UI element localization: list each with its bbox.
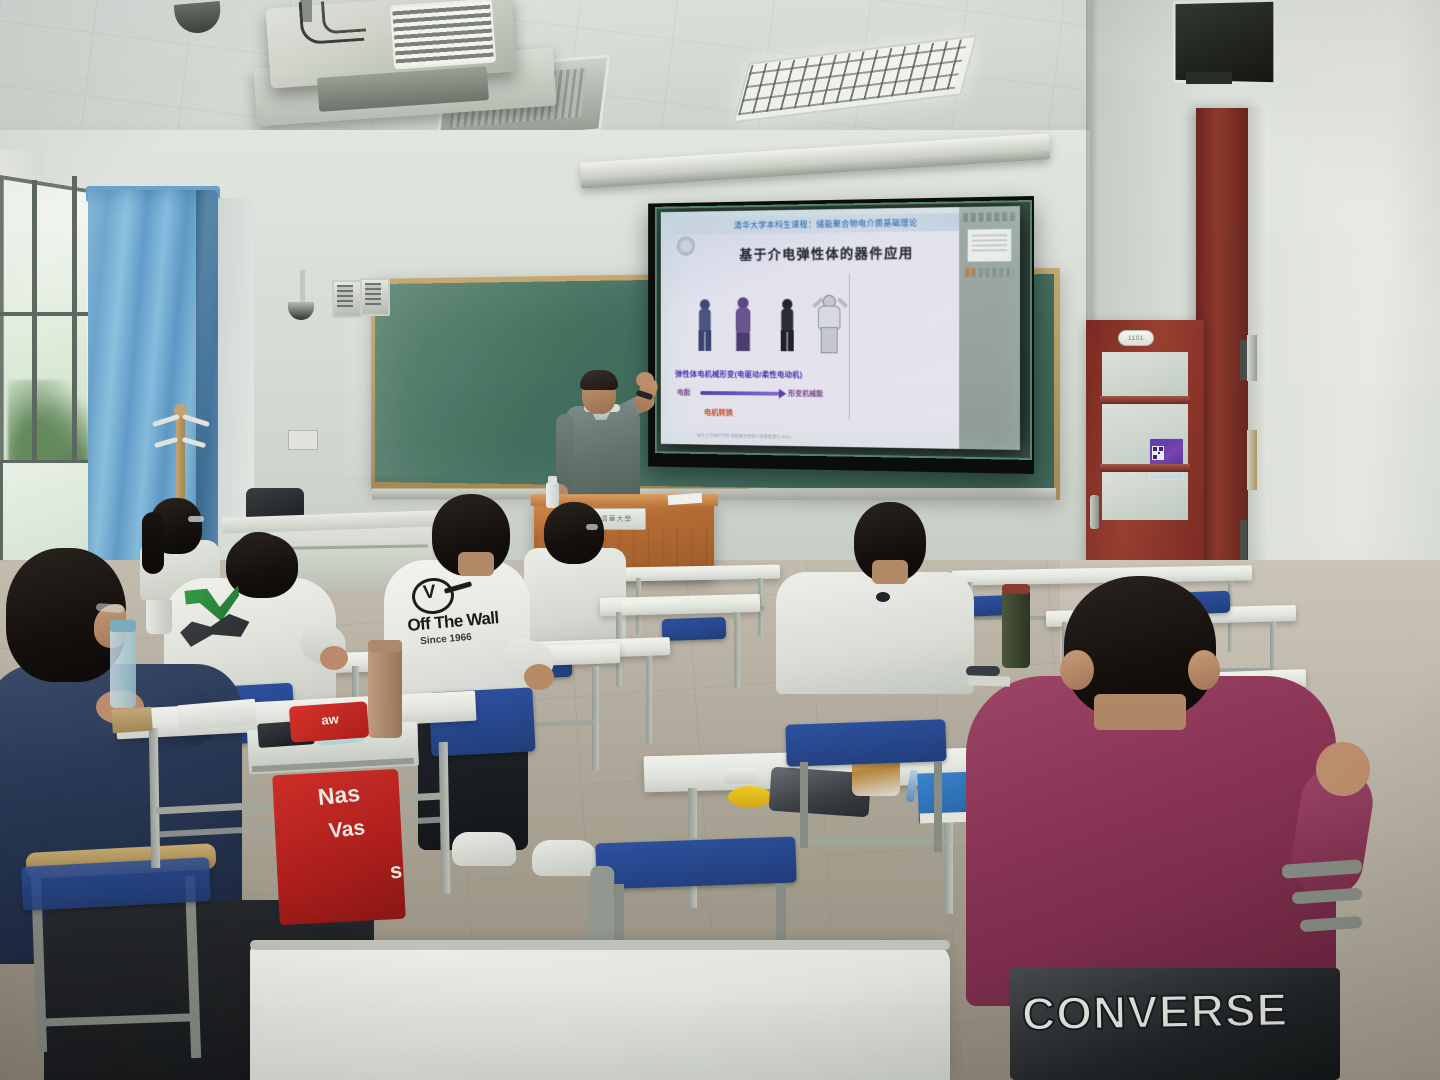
sidebar-header-label xyxy=(963,212,1016,222)
green-thermos xyxy=(1002,590,1030,668)
student-maroon-neck xyxy=(1094,694,1186,730)
slide-title: 基于介电弹性体的器件应用 xyxy=(688,243,969,265)
eyeglasses-icon xyxy=(188,516,204,522)
projector-vent xyxy=(390,0,496,69)
water-bottle-cap xyxy=(110,620,136,632)
lecturer-hair xyxy=(580,370,618,390)
white-clip xyxy=(724,768,758,784)
hand-sanitizer-pump xyxy=(548,476,557,484)
presentation-sidebar-panel[interactable] xyxy=(959,206,1020,450)
desk-leg xyxy=(592,666,599,770)
student-vans-shoe-1 xyxy=(452,832,516,866)
small-box xyxy=(111,707,153,734)
student-s5-torso xyxy=(776,572,974,694)
sidebar-row-label xyxy=(965,268,1014,277)
student-s5-neck xyxy=(872,560,908,584)
desk-far-center xyxy=(620,565,780,582)
security-camera-arm xyxy=(300,270,305,306)
chair-foreground-center[interactable] xyxy=(785,719,946,767)
water-bottle xyxy=(110,628,136,708)
brown-thermos-lid xyxy=(368,640,402,652)
slide-flow-from: 电能 xyxy=(677,387,690,398)
student-vans-shoe-2 xyxy=(532,840,598,876)
chair-far-1[interactable] xyxy=(662,617,727,641)
slide-header-text: 清华大学本科生课程：储能聚合物电介质基础理论 xyxy=(679,213,977,235)
door-strike-plate xyxy=(1247,335,1257,381)
wall-switch-panel[interactable] xyxy=(288,430,318,450)
chair-leg xyxy=(934,762,942,852)
walking-figure-1 xyxy=(693,299,717,351)
walking-figure-2 xyxy=(731,297,755,351)
door-number-text: 1101 xyxy=(1128,335,1144,342)
slide-flow-to: 形变机械能 xyxy=(788,388,823,399)
hand-sanitizer-bottle xyxy=(546,482,559,508)
student-female-hair xyxy=(142,512,164,574)
lecturer-fist xyxy=(636,372,654,388)
student-vans-neck xyxy=(458,552,494,576)
desk-leg xyxy=(646,656,652,744)
classroom-photo: 清华大学本科生课程：储能聚合物电介质基础理论 基于介电弹性体的器件应用 xyxy=(0,0,1440,1080)
door-mullion-2 xyxy=(1100,464,1190,472)
vans-v-letter: V xyxy=(420,583,439,602)
walking-figure-3 xyxy=(775,299,799,351)
walking-figure-4-strongman xyxy=(814,291,844,351)
door-hinge-upper xyxy=(1240,340,1247,380)
student-vans-hand xyxy=(524,664,554,690)
student-s5-collar-mark xyxy=(876,592,890,602)
slide-flow-arrow-icon xyxy=(700,391,780,396)
wall-speaker-left-mesh xyxy=(337,285,353,309)
qr-code-icon xyxy=(1152,446,1164,460)
green-thermos-cap xyxy=(1002,584,1030,594)
student-maroon-ear-right xyxy=(1188,650,1220,690)
student-s4-head xyxy=(544,502,604,564)
slide-thumbnail[interactable] xyxy=(967,228,1012,262)
projector-cable-secondary xyxy=(321,0,366,34)
desk-bottom-edge xyxy=(250,940,950,950)
paper-cup-small xyxy=(146,600,172,634)
slide-footer-note: 清华大学材料学院 储能聚合物电介质基础理论 2021 xyxy=(697,433,930,443)
slide-surface: 清华大学本科生课程：储能聚合物电介质基础理论 基于介电弹性体的器件应用 xyxy=(661,206,1020,450)
slide-flow-label: 电机转换 xyxy=(704,407,733,418)
lecturer-torso xyxy=(566,406,640,506)
wall-speaker-right-mesh xyxy=(365,283,381,307)
wall-speaker-bracket xyxy=(1186,72,1232,84)
projection-screen[interactable]: 清华大学本科生课程：储能聚合物电介质基础理论 基于介电弹性体的器件应用 xyxy=(661,206,1020,450)
student-greenlogo-hand xyxy=(320,646,348,670)
yellow-lid xyxy=(728,786,772,808)
door-glass-upper xyxy=(1102,352,1188,398)
brown-thermos xyxy=(368,646,402,738)
door-glass-lower xyxy=(1102,472,1188,520)
paper-on-right-desk xyxy=(968,675,1010,686)
student-s4-glasses-icon xyxy=(586,524,598,530)
door-number-plate: 1101 xyxy=(1118,330,1154,346)
door-hinge-lower xyxy=(1240,520,1247,560)
door-latch-plate xyxy=(1247,430,1257,490)
desk-leg xyxy=(734,612,740,688)
slide-divider xyxy=(849,273,850,419)
student-maroon-ear-left xyxy=(1060,650,1094,690)
door-mullion-1 xyxy=(1100,396,1190,404)
lectern-plaque-text: 清華大學 xyxy=(601,514,632,524)
slide-caption-main: 弹性体电机械形变(电驱动/柔性电动机) xyxy=(675,369,850,381)
converse-backpack-text: CONVERSE xyxy=(1022,981,1353,1041)
chair-empty-front[interactable] xyxy=(595,837,796,890)
chair-leg xyxy=(800,762,808,848)
desk-bottom-foreground xyxy=(250,944,950,1080)
lecturer-left-arm xyxy=(556,414,574,488)
door-handle[interactable] xyxy=(1090,495,1099,529)
student-maroon-hand xyxy=(1316,742,1370,796)
